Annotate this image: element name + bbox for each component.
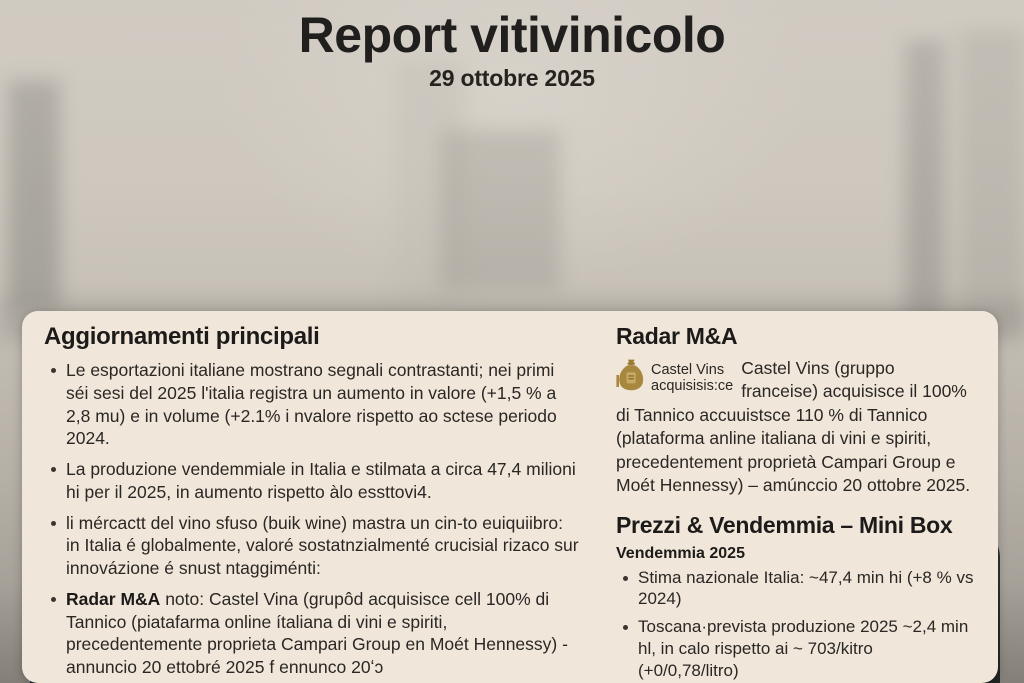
report-date: 29 ottobre 2025 [0,65,1024,92]
vendemmia-list: Stima nazionale Italia: ~47,4 min hi (+8… [616,567,976,682]
list-item: li mércactt del vino sfuso (buik wine) m… [44,512,580,580]
content-card: Aggiornamenti principali Le esportazioni… [22,311,998,683]
key-updates-list: Le esportazioni italiane mostrano segnal… [44,359,580,679]
list-item: Toscana·prevista produzione 2025 ~2,4 mi… [616,616,976,681]
radar-ma-heading: Radar M&A [616,323,976,350]
list-item: Stima nazionale Italia: ~47,4 min hi (+8… [616,567,976,611]
list-item: Le esportazioni italiane mostrano segnal… [44,359,580,450]
radar-ma-paragraph: Castel Vins acquisisis:ce Castel Vins (g… [616,357,976,498]
badge-labels: Castel Vins acquisisis:ce [651,362,733,394]
radar-label: Radar M&A [66,589,160,609]
badge-line-2: acquisisis:ce [651,378,733,394]
list-item-radar: Radar M&A noto: Castel Vina (grupôd acqu… [44,588,580,679]
bg-window [440,130,560,290]
header: Report vitivinicolo 29 ottobre 2025 [0,8,1024,92]
mini-box-heading: Prezzi & Vendemmia – Mini Box [616,512,976,539]
badge-line-1: Castel Vins [651,362,733,378]
page-title: Report vitivinicolo [0,8,1024,62]
list-item: La produzione vendemmiale in Italia e st… [44,458,580,504]
castel-vins-badge: Castel Vins acquisisis:ce [616,359,733,397]
vendemmia-subheading: Vendemmia 2025 [616,545,976,563]
right-column: Radar M&A Castel Vins [600,311,998,683]
left-column: Aggiornamenti principali Le esportazioni… [22,311,600,683]
report-infographic: Report vitivinicolo 29 ottobre 2025 Aggi… [0,0,1024,683]
money-bag-icon [616,359,646,397]
left-column-heading: Aggiornamenti principali [44,323,580,351]
